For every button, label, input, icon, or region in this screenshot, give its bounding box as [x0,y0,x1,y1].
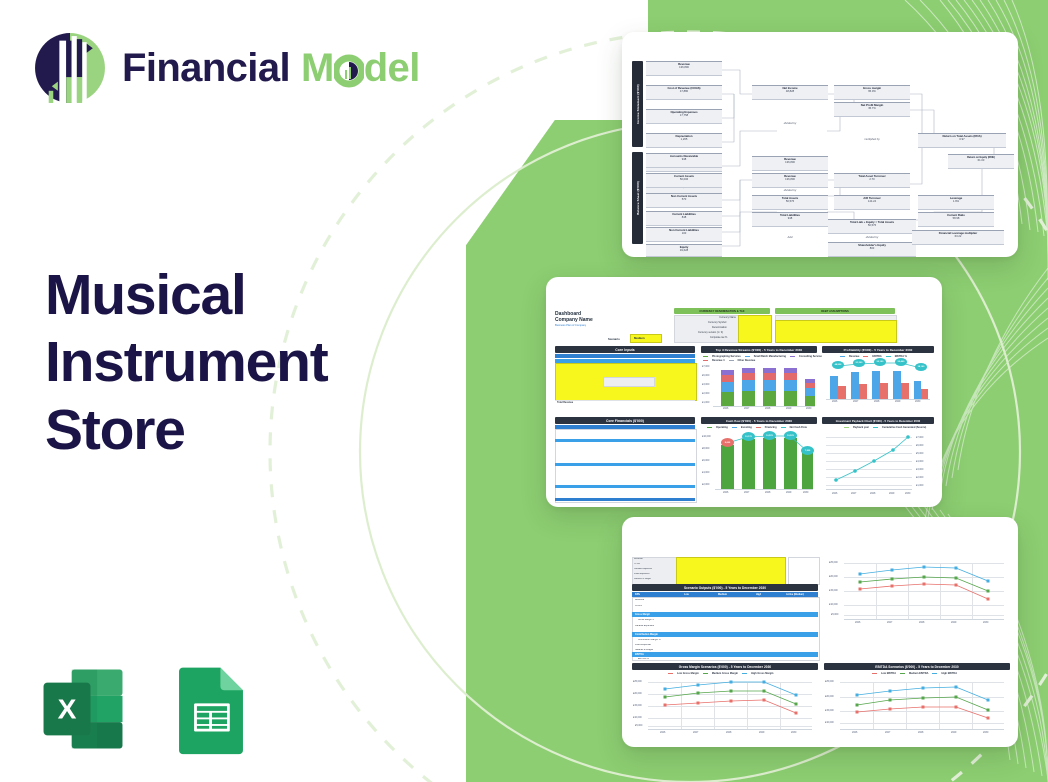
row-fixed-expenses: Fixed Expenses [635,644,651,646]
assumption-labels [632,557,678,585]
dashboard-screenshot[interactable]: Dashboard Company Name Business Plan of … [546,277,942,507]
node-cogs: Cost of Revenue (COGS) 47,880 [646,85,722,100]
node-revenue-3: Revenue 136,800 [752,173,828,188]
panel-cash-flow: Cash flow ($'000) - 5 Years to December … [701,417,817,424]
assumption-row-2-label: Variable Expenses [634,568,652,570]
node-non-current-assets: Non Current Assets 570 [646,193,722,208]
ebitda-chart: Low EBITDA Medium EBITDA High EBITDA £25… [824,671,1010,737]
node-non-current-liabilities: Non Current Liabilities 100 [646,227,722,242]
scenario-col-kpis: KPIs [635,593,640,596]
row-ebitda: EBITDA [635,653,644,656]
dashboard-subtitle: Company Name [555,317,593,323]
revenue-streams-chart: Photographing Services Small Batch Manuf… [701,354,817,412]
brand-model-del: del [364,48,420,88]
page-title-line-1: Musical [45,262,425,329]
panel-core-inputs: Core Inputs [555,346,695,353]
brand-word-model: Mdel [301,48,420,88]
node-total-liabilities: Total Liabilities 948 [752,212,828,227]
page-title: Musical Instrument Store [45,262,425,464]
currency-row-3-label: Currency version (1 / 0) [698,331,736,334]
node-financial-leverage-multiplier: Financial Leverage multiplier 63.22 [912,230,1004,245]
node-net-profit-margin: Net Profit Margin 35.7% [834,102,910,117]
brand-logo[interactable]: Financial Mdel [32,30,420,106]
cash-flow-chart: Operating Investing Financing Net Cash F… [701,425,817,501]
profitability-chart: Revenue EBITDA EBITDA % 48,828 [822,354,934,412]
currency-row-2-label: Denomination [712,326,736,329]
row-revenue: Revenue [635,599,644,601]
panel-core-financials: Core Financials ($'000) [555,417,695,424]
file-format-icons: X [36,662,258,756]
brand-wordmark: Financial Mdel [122,48,420,88]
assumption-row-3-label: Fixed Expenses [634,573,650,575]
row-gross-margin-pct: Gross Margin % [638,619,654,621]
panel-debt-assumptions: DEBT ASSUMPTIONS [775,308,895,314]
node-gross-margin: Gross margin 65.0% [834,85,910,100]
panel-top-revenue-streams: Top 3 Revenue Streams ($'000) - 5 Years … [701,346,817,353]
core-inputs-grey-cell [603,377,655,387]
brand-word-financial: Financial [122,48,290,88]
node-accounts-receivable: Accounts Receivable 948 [646,153,722,168]
core-inputs-header [555,354,695,358]
node-shareholders-equity: Shareholder's Equity 800 [828,242,916,257]
node-leverage: Leverage 1.9% [918,195,994,210]
scenario-col-medium: Medium [718,593,727,596]
node-total-assets: Total Assets 50,576 [752,195,828,210]
node-total-asset-turnover: Total Asset Turnover 2.70 [834,173,910,188]
dupont-flow-diagram-screenshot[interactable]: Income Statement ($'000) Balance Sheet (… [622,32,1018,257]
page-title-line-3: Store [45,397,425,464]
gross-margin-chart: Low Gross Margin Medium Gross Margin Hig… [632,671,818,737]
scenario-value: Medium [634,336,645,340]
debt-values[interactable] [775,320,897,343]
row-gross-margin: Gross Margin [635,613,650,616]
panel-gross-margin-scenarios: Gross Margin Scenarios ($'000) - 5 Years… [632,663,818,670]
scenario-col-high: High [756,593,761,596]
scenarios-screenshot[interactable]: Revenue COGS Variable Expenses Fixed Exp… [622,517,1018,747]
dashboard-caption: Business Plan of Company [555,324,586,327]
band-balance-sheet: Balance Sheet ($'000) [632,152,643,244]
currency-value-col[interactable] [738,315,772,343]
microsoft-excel-icon[interactable]: X [36,662,130,756]
panel-scenario-outputs: Scenario Outputs ($'000) - 5 Years to De… [632,584,818,591]
poster-canvas: Financial Mdel Musical Instrument Store … [0,0,1048,782]
node-roa: Return on Total Assets (ROA) 0.97 [918,133,1006,148]
panel-ebitda-scenarios: EBITDA Scenarios ($'000) - 5 Years to De… [824,663,1010,670]
panel-investment-payback: Investment Payback Chart ($'000) - 5 Yea… [822,417,934,424]
op-divided-by-2: divided by [752,188,828,192]
node-total-liab-equity: Total Liab + Equity = Total Assets 50,57… [828,219,916,234]
panel-profitability: Profitability ($'000) - 5 Years to Decem… [822,346,934,353]
scenario-col-low: Low [684,593,689,596]
op-divided-by-3: divided by [834,235,910,239]
currency-row-4-label: Corporate tax % [710,336,736,339]
row-contribution-margin-pct: Contribution Margin % [638,639,661,641]
node-net-income: Net Income 48,828 [752,85,828,100]
node-revenue: Revenue 136,800 [646,61,722,76]
scenario-overview-chart: £25,000 £20,000 £15,000 £10,000 £5,000 [828,555,1010,629]
brand-model-m: M [301,48,334,88]
op-divided-by-1: divided by [752,121,828,125]
scenario-col-active: Active (Medium) [786,593,804,596]
op-multiplied-by-1: multiplied by [834,137,910,141]
assumption-row-4-label: Salaries & Wages [634,578,651,580]
total-revenue-label: Total Revenue [557,401,573,404]
op-add: Add [752,235,828,239]
node-ar-turnover: A/R Turnover 144.24 [834,195,910,210]
investment-payback-chart: Payback year Cumulative Cash Generated (… [822,425,934,501]
row-ebitda-pct: EBITDA % [638,658,649,660]
google-sheets-icon[interactable] [164,662,258,756]
row-contribution-margin: Contribution Margin [635,633,658,636]
node-current-ratio: Current Ratio 58.98 [918,212,994,227]
node-revenue-2: Revenue 136,800 [752,156,828,171]
node-operating-expenses: Operating Expenses 17,758 [646,109,722,124]
assumption-values[interactable] [676,557,786,585]
node-equity: Equity 49,628 [646,244,722,257]
currency-row-1-label: Currency Symbol [708,321,736,324]
svg-text:X: X [58,692,77,724]
row-cogs: COGS [635,605,642,607]
node-depreciation: Depreciation 1,265 [646,133,722,148]
pie-bars-logo-icon [32,30,108,106]
scenario-label: Scenario [608,337,620,341]
brand-model-o-icon [334,48,364,88]
node-current-assets: Current Assets 50,006 [646,173,722,188]
node-roe: Return on Equity (ROE) 61.03 [948,154,1014,169]
node-current-liabilities: Current Liabilities 848 [646,211,722,226]
currency-row-0-label: Currency Name [712,316,736,319]
page-title-line-2: Instrument [45,329,425,396]
panel-currency-denomination: CURRENCY DENOMINATION & TAX [674,308,770,314]
assumption-row-1-label: COGS [634,563,640,565]
row-variable-expenses: Variable Expenses [635,625,654,627]
assumption-row-0-label: Revenue [634,558,643,560]
assumption-active-col [788,557,820,585]
row-salaries-wages: Salaries & Wages [635,649,653,651]
band-income-statement: Income Statement ($'000) [632,61,643,147]
